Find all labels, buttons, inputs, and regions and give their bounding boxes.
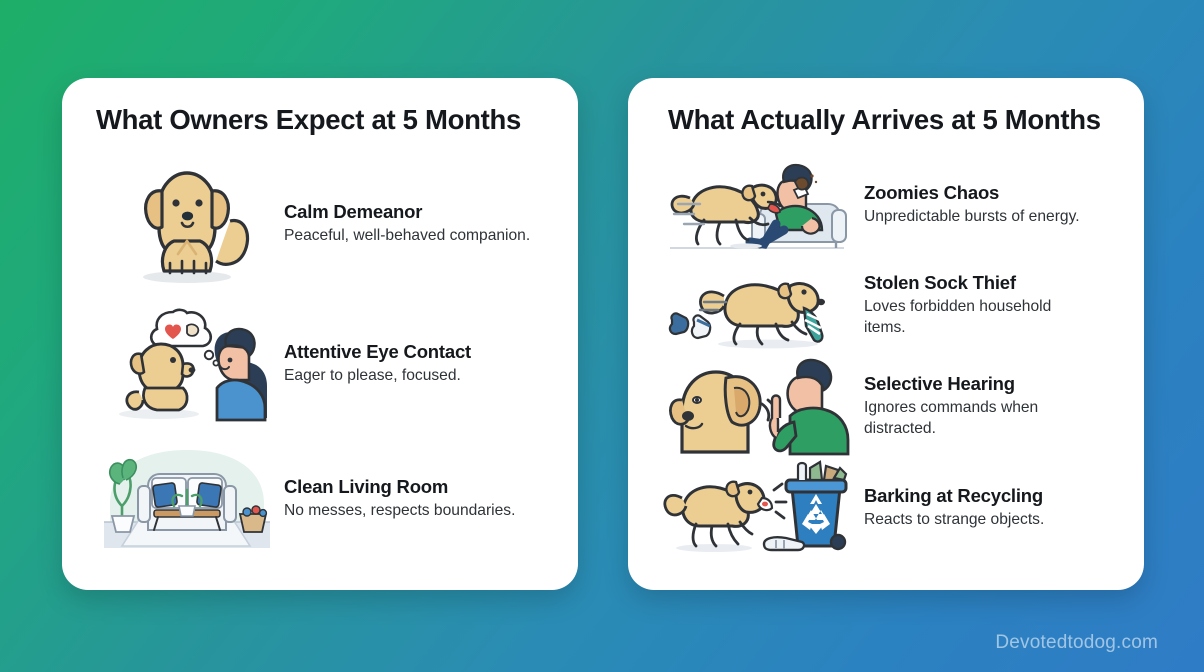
sitting-golden-retriever-icon [96,160,278,288]
dog-ignoring-owner-icon [662,359,852,455]
item-description: Loves forbidden household items. [864,297,1096,338]
item-description: Unpredictable bursts of energy. [864,207,1114,228]
item-description: Peaceful, well-behaved companion. [284,226,540,247]
item-description: Reacts to strange objects. [864,510,1114,531]
list-item-text: Zoomies Chaos Unpredictable bursts of en… [858,182,1114,228]
list-item-text: Selective Hearing Ignores commands when … [858,373,1114,439]
list-item-text: Clean Living Room No messes, respects bo… [278,476,548,522]
actual-item-list: Zoomies Chaos Unpredictable bursts of en… [662,154,1114,558]
list-item-text: Calm Demeanor Peaceful, well-behaved com… [278,201,548,247]
dog-leaping-over-couch-icon [662,157,852,253]
card-title-expect: What Owners Expect at 5 Months [96,104,548,136]
item-title: Clean Living Room [284,476,548,498]
item-title: Barking at Recycling [864,485,1114,507]
list-item: Calm Demeanor Peaceful, well-behaved com… [96,154,548,294]
item-title: Selective Hearing [864,373,1114,395]
list-item-text: Barking at Recycling Reacts to strange o… [858,485,1114,531]
card-actually-arrives: What Actually Arrives at 5 Months [628,78,1144,590]
list-item: Stolen Sock Thief Loves forbidden househ… [662,255,1114,356]
expect-item-list: Calm Demeanor Peaceful, well-behaved com… [96,154,548,564]
card-owners-expect: What Owners Expect at 5 Months [62,78,578,590]
list-item: Barking at Recycling Reacts to strange o… [662,457,1114,558]
item-title: Calm Demeanor [284,201,548,223]
item-title: Zoomies Chaos [864,182,1114,204]
dog-barking-at-recycling-bin-icon [662,460,852,556]
item-description: No messes, respects boundaries. [284,501,540,522]
card-title-actual: What Actually Arrives at 5 Months [668,104,1114,136]
list-item-text: Stolen Sock Thief Loves forbidden househ… [858,272,1114,338]
list-item: Zoomies Chaos Unpredictable bursts of en… [662,154,1114,255]
item-title: Attentive Eye Contact [284,341,548,363]
dog-and-owner-eye-contact-icon [96,300,278,428]
list-item: Attentive Eye Contact Eager to please, f… [96,294,548,434]
item-description: Ignores commands when distracted. [864,398,1096,439]
item-description: Eager to please, focused. [284,366,540,387]
dog-carrying-sock-icon [662,258,852,354]
infographic-canvas: What Owners Expect at 5 Months [0,0,1204,672]
item-title: Stolen Sock Thief [864,272,1114,294]
list-item: Selective Hearing Ignores commands when … [662,356,1114,457]
list-item: Clean Living Room No messes, respects bo… [96,434,548,564]
tidy-living-room-icon [96,435,278,563]
watermark: Devotedtodog.com [995,632,1158,654]
list-item-text: Attentive Eye Contact Eager to please, f… [278,341,548,387]
